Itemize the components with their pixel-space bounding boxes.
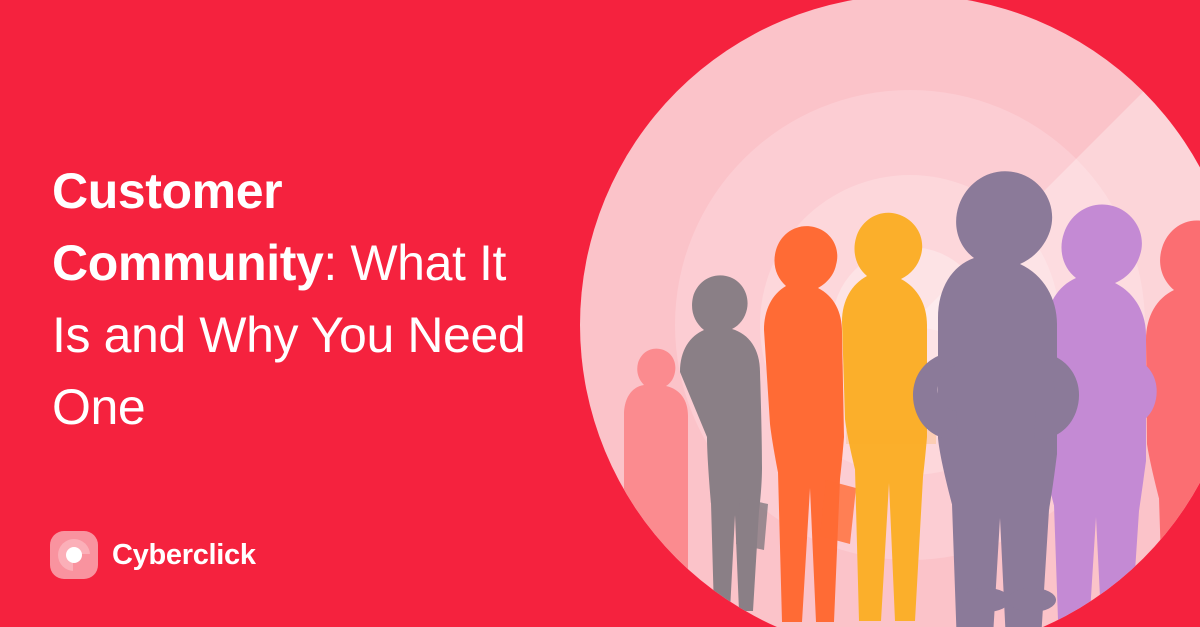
artwork-illustration [580, 0, 1200, 627]
content-column: Customer Community: What It Is and Why Y… [0, 0, 600, 627]
page-title-separator: : [323, 235, 350, 291]
brand-logo[interactable]: Cyberclick [50, 531, 256, 579]
page-title-emphasis: Customer Community [52, 163, 323, 291]
blog-banner: Customer Community: What It Is and Why Y… [0, 0, 1200, 627]
brand-name: Cyberclick [112, 541, 256, 570]
page-title: Customer Community: What It Is and Why Y… [52, 155, 552, 443]
cyberclick-target-icon [50, 531, 98, 579]
logo-center-dot [66, 547, 82, 563]
